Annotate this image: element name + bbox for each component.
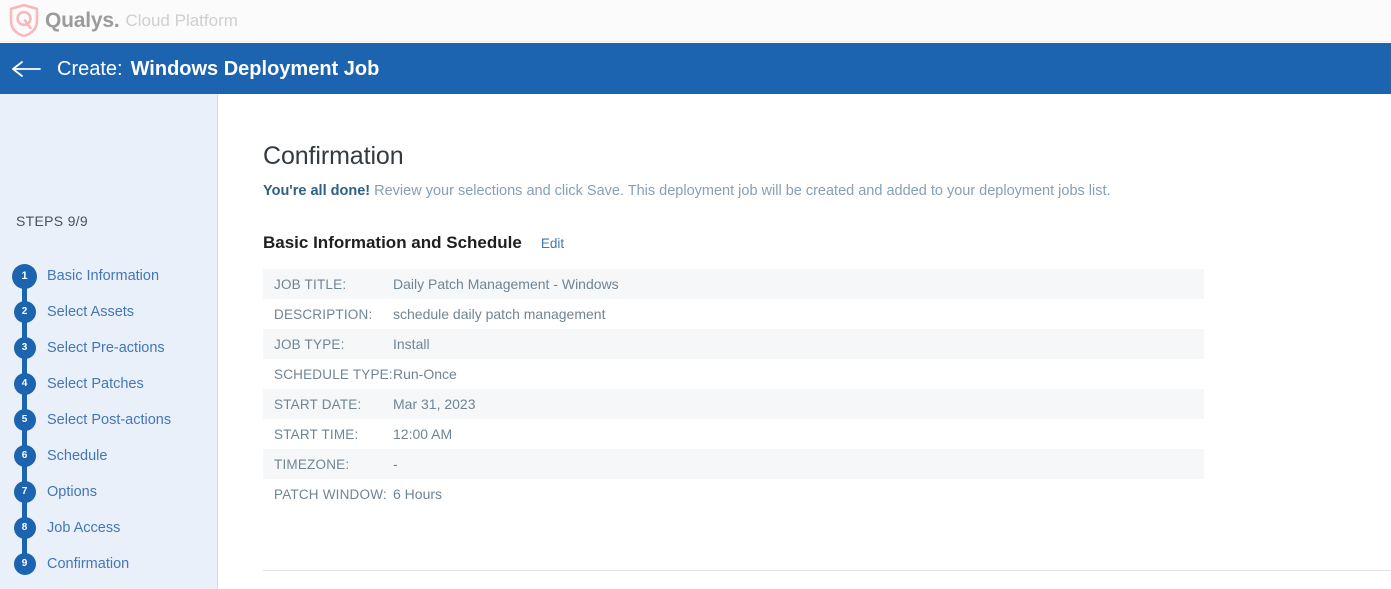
lede-rest-text: Review your selections and click Save. T… bbox=[370, 183, 1110, 199]
row-value: 6 Hours bbox=[393, 486, 442, 502]
page-titlebar: Create: Windows Deployment Job bbox=[0, 43, 1391, 94]
table-row: JOB TITLE: Daily Patch Management - Wind… bbox=[263, 269, 1204, 299]
steps-sidebar: STEPS 9/9 1 Basic Information 2 Select A… bbox=[0, 94, 218, 589]
row-key: START DATE: bbox=[263, 397, 393, 412]
sidebar-item-select-pre-actions[interactable]: 3 Select Pre-actions bbox=[0, 330, 218, 366]
sidebar-item-label: Basic Information bbox=[47, 269, 159, 284]
step-number-badge: 3 bbox=[14, 337, 36, 359]
row-value: schedule daily patch management bbox=[393, 306, 605, 322]
row-key: JOB TITLE: bbox=[263, 277, 393, 292]
table-row: START TIME: 12:00 AM bbox=[263, 419, 1204, 449]
sidebar-item-schedule[interactable]: 6 Schedule bbox=[0, 438, 218, 474]
qualys-shield-icon bbox=[9, 4, 39, 37]
section-divider bbox=[263, 570, 1391, 571]
step-number-badge: 8 bbox=[14, 517, 36, 539]
row-value: - bbox=[393, 456, 398, 472]
lede-bold-text: You're all done! bbox=[263, 183, 370, 199]
table-row: DESCRIPTION: schedule daily patch manage… bbox=[263, 299, 1204, 329]
row-value: 12:00 AM bbox=[393, 426, 452, 442]
table-row: PATCH WINDOW: 6 Hours bbox=[263, 479, 1204, 509]
brand-name: Qualys. bbox=[45, 10, 119, 31]
steps-list: 1 Basic Information 2 Select Assets 3 Se… bbox=[0, 258, 218, 582]
basic-information-table: JOB TITLE: Daily Patch Management - Wind… bbox=[263, 269, 1204, 509]
brand-tagline: Cloud Platform bbox=[125, 12, 237, 29]
main-content: Confirmation You're all done! Review you… bbox=[219, 94, 1391, 589]
sidebar-item-select-post-actions[interactable]: 5 Select Post-actions bbox=[0, 402, 218, 438]
row-value: Mar 31, 2023 bbox=[393, 396, 476, 412]
step-number-badge: 9 bbox=[14, 553, 36, 575]
step-number-badge: 2 bbox=[14, 301, 36, 323]
back-arrow-icon[interactable] bbox=[11, 59, 43, 79]
step-number-badge: 7 bbox=[14, 481, 36, 503]
sidebar-item-basic-information[interactable]: 1 Basic Information bbox=[0, 258, 218, 294]
step-number-badge: 5 bbox=[14, 409, 36, 431]
table-row: SCHEDULE TYPE: Run-Once bbox=[263, 359, 1204, 389]
sidebar-item-label: Select Assets bbox=[47, 305, 134, 320]
row-key: JOB TYPE: bbox=[263, 337, 393, 352]
table-row: START DATE: Mar 31, 2023 bbox=[263, 389, 1204, 419]
sidebar-item-label: Options bbox=[47, 485, 97, 500]
page-title-text: Windows Deployment Job bbox=[131, 59, 380, 79]
section-title: Basic Information and Schedule bbox=[263, 233, 522, 253]
title-prefix: Create: bbox=[57, 59, 123, 79]
brand-bar: Qualys. Cloud Platform bbox=[0, 0, 1391, 42]
row-key: PATCH WINDOW: bbox=[263, 487, 393, 502]
sidebar-item-label: Schedule bbox=[47, 449, 107, 464]
sidebar-item-label: Select Post-actions bbox=[47, 413, 171, 428]
step-number-badge: 1 bbox=[12, 264, 37, 289]
row-key: TIMEZONE: bbox=[263, 457, 393, 472]
sidebar-item-select-patches[interactable]: 4 Select Patches bbox=[0, 366, 218, 402]
steps-counter-label: STEPS 9/9 bbox=[16, 213, 88, 229]
sidebar-item-label: Select Pre-actions bbox=[47, 341, 165, 356]
sidebar-item-label: Job Access bbox=[47, 521, 120, 536]
sidebar-item-label: Select Patches bbox=[47, 377, 144, 392]
sidebar-item-confirmation[interactable]: 9 Confirmation bbox=[0, 546, 218, 582]
row-key: DESCRIPTION: bbox=[263, 307, 393, 322]
confirmation-heading: Confirmation bbox=[263, 142, 404, 171]
sidebar-item-options[interactable]: 7 Options bbox=[0, 474, 218, 510]
row-key: SCHEDULE TYPE: bbox=[263, 367, 393, 382]
row-value: Install bbox=[393, 336, 430, 352]
row-value: Daily Patch Management - Windows bbox=[393, 276, 619, 292]
sidebar-item-job-access[interactable]: 8 Job Access bbox=[0, 510, 218, 546]
table-row: TIMEZONE: - bbox=[263, 449, 1204, 479]
row-value: Run-Once bbox=[393, 366, 457, 382]
confirmation-lede: You're all done! Review your selections … bbox=[263, 183, 1111, 200]
row-key: START TIME: bbox=[263, 427, 393, 442]
step-number-badge: 6 bbox=[14, 445, 36, 467]
section-header: Basic Information and Schedule Edit bbox=[263, 233, 564, 253]
step-number-badge: 4 bbox=[14, 373, 36, 395]
sidebar-item-select-assets[interactable]: 2 Select Assets bbox=[0, 294, 218, 330]
edit-link[interactable]: Edit bbox=[541, 236, 564, 251]
sidebar-item-label: Confirmation bbox=[47, 557, 129, 572]
table-row: JOB TYPE: Install bbox=[263, 329, 1204, 359]
